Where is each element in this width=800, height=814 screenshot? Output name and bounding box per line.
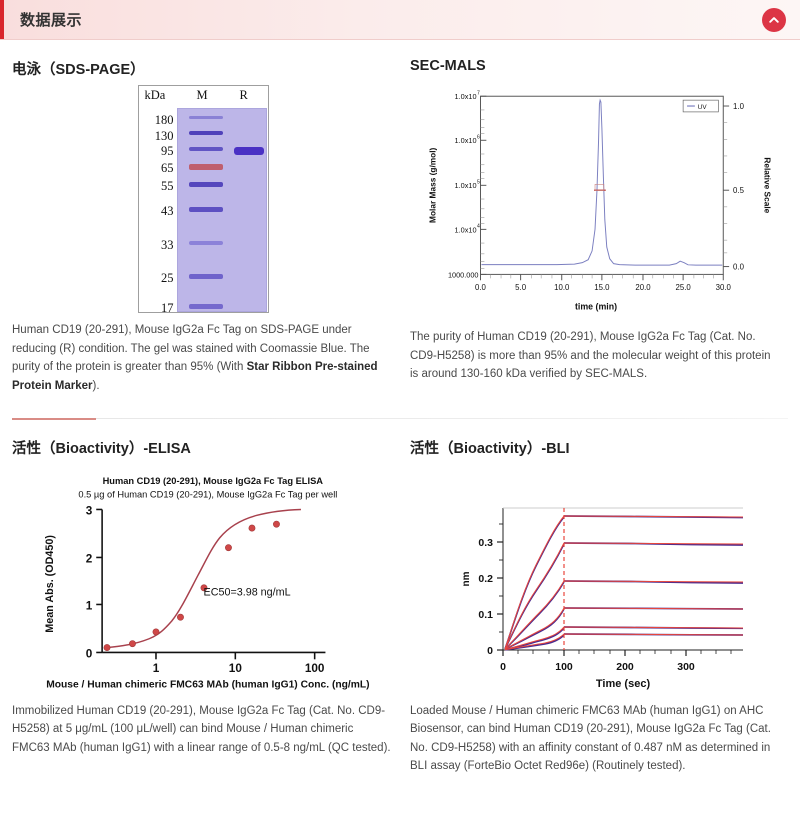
mw-label: 65 [161, 162, 174, 175]
secmals-title: SEC-MALS [410, 58, 782, 74]
mw-label: 95 [161, 145, 174, 158]
marker-band-180 [189, 116, 223, 119]
secmals-xtick: 0.0 [475, 283, 487, 292]
mw-label: 130 [155, 130, 174, 143]
elisa-ytick: 2 [86, 552, 93, 565]
secmals-caption: The purity of Human CD19 (20-291), Mouse… [410, 328, 782, 384]
secmals-xtick: 5.0 [515, 283, 527, 292]
divider-accent [12, 418, 96, 420]
gel-header-kda: kDa [145, 88, 166, 103]
secmals-ytick: 1.0x10 [455, 136, 477, 145]
elisa-title: 活性（Bioactivity）-ELISA [12, 437, 394, 458]
row-bioactivity: 活性（Bioactivity）-ELISA Human CD19 (20-291… [12, 419, 788, 777]
secmals-xtick: 15.0 [594, 283, 610, 292]
secmals-legend-label: UV [698, 104, 708, 111]
marker-band-130 [189, 131, 223, 135]
marker-band-65 [189, 164, 223, 170]
bli-figure: 0 0.1 0.2 0.3 [410, 464, 782, 694]
mw-label: 43 [161, 205, 174, 218]
marker-band-33 [189, 241, 223, 245]
sds-page-gel: kDa M R 180 130 95 65 55 43 33 25 17 [138, 85, 269, 313]
secmals-ytick: 1.0x10 [455, 92, 477, 101]
secmals-ytick-exp: 4 [477, 223, 480, 229]
bli-ylabel: nm [461, 571, 472, 586]
mw-label: 17 [161, 302, 174, 315]
bli-xtick: 200 [616, 661, 634, 673]
bli-ytick: 0 [487, 645, 493, 657]
gel-header-m: M [197, 88, 208, 103]
elisa-ytick: 0 [86, 647, 93, 660]
marker-band-17 [189, 304, 223, 309]
elisa-xtick: 10 [229, 662, 243, 675]
elisa-xlabel: Mouse / Human chimeric FMC63 MAb (human … [46, 679, 369, 690]
bli-ytick: 0.3 [478, 537, 493, 549]
gel-column-headers: kDa M R [139, 88, 268, 106]
elisa-point [249, 524, 255, 530]
sample-band-r [234, 147, 264, 155]
elisa-chart-subtitle: 0.5 µg of Human CD19 (20-291), Mouse IgG… [78, 489, 337, 499]
secmals-xlabel: time (min) [575, 302, 617, 312]
gel-header-r: R [240, 88, 248, 103]
row-purity: 电泳（SDS-PAGE） kDa M R 180 130 95 65 55 43 [12, 40, 788, 396]
sec-mals-chart: 1.0x10 1.0x10 1.0x10 1.0x10 1000.000 7 6… [410, 80, 782, 320]
bli-xtick: 100 [555, 661, 573, 673]
secmals-legend: UV [683, 100, 718, 112]
cell-elisa: 活性（Bioactivity）-ELISA Human CD19 (20-291… [12, 419, 400, 777]
collapse-panel-button[interactable] [762, 8, 786, 32]
chevron-up-icon [767, 13, 781, 27]
bli-title: 活性（Bioactivity）-BLI [410, 437, 782, 458]
elisa-point [177, 614, 183, 620]
section-divider [12, 418, 788, 419]
secmals-ytick-exp: 5 [477, 179, 480, 185]
elisa-chart-title: Human CD19 (20-291), Mouse IgG2a Fc Tag … [103, 475, 324, 485]
panel-header: 数据展示 [0, 0, 800, 40]
elisa-point [129, 640, 135, 646]
secmals-ytick-exp: 7 [477, 90, 480, 96]
bli-chart: 0 0.1 0.2 0.3 [431, 464, 761, 694]
marker-band-43 [189, 207, 223, 212]
secmals-y2tick: 0.0 [733, 263, 745, 272]
elisa-xtick: 1 [153, 662, 160, 675]
secmals-y2label: Relative Scale [762, 157, 772, 213]
sdspage-caption-part2: ). [93, 380, 100, 392]
elisa-point [153, 628, 159, 634]
marker-band-95 [189, 147, 223, 151]
page-title: 数据展示 [20, 9, 82, 30]
elisa-chart: Human CD19 (20-291), Mouse IgG2a Fc Tag … [12, 464, 394, 694]
marker-band-25 [189, 274, 223, 279]
secmals-y2tick: 0.5 [733, 186, 745, 195]
secmals-y2tick: 1.0 [733, 102, 745, 111]
secmals-ytick: 1000.000 [448, 270, 479, 279]
cell-secmals: SEC-MALS [400, 40, 788, 396]
secmals-ytick: 1.0x10 [455, 181, 477, 190]
elisa-ytick: 1 [86, 599, 93, 612]
header-accent-bar [0, 0, 4, 39]
bli-xtick: 0 [500, 661, 506, 673]
bli-xlabel: Time (sec) [596, 678, 651, 690]
sdspage-figure: kDa M R 180 130 95 65 55 43 33 25 17 [12, 85, 394, 313]
marker-band-55 [189, 182, 223, 187]
elisa-caption: Immobilized Human CD19 (20-291), Mouse I… [12, 702, 394, 758]
mw-label: 180 [155, 114, 174, 127]
gel-mw-ladder-labels: 180 130 95 65 55 43 33 25 17 [141, 108, 177, 312]
mw-label: 33 [161, 239, 174, 252]
bli-ytick: 0.2 [478, 573, 493, 585]
secmals-xtick: 25.0 [676, 283, 692, 292]
elisa-ylabel: Mean Abs. (OD450) [44, 534, 56, 632]
bli-xtick: 300 [677, 661, 695, 673]
secmals-xtick: 20.0 [635, 283, 651, 292]
panel-content: 电泳（SDS-PAGE） kDa M R 180 130 95 65 55 43 [0, 40, 800, 776]
gel-lanes [177, 108, 267, 312]
sdspage-caption: Human CD19 (20-291), Mouse IgG2a Fc Tag … [12, 321, 394, 396]
bli-ytick: 0.1 [478, 609, 493, 621]
elisa-figure: Human CD19 (20-291), Mouse IgG2a Fc Tag … [12, 464, 394, 694]
sdspage-title: 电泳（SDS-PAGE） [12, 58, 394, 79]
mw-label: 55 [161, 180, 174, 193]
cell-bli: 活性（Bioactivity）-BLI [400, 419, 788, 777]
cell-sdspage: 电泳（SDS-PAGE） kDa M R 180 130 95 65 55 43 [12, 40, 400, 396]
mw-label: 25 [161, 272, 174, 285]
bli-caption: Loaded Mouse / Human chimeric FMC63 MAb … [410, 702, 782, 777]
secmals-xtick: 30.0 [716, 283, 732, 292]
secmals-ylabel: Molar Mass (g/mol) [427, 147, 437, 223]
secmals-ytick-exp: 6 [477, 134, 480, 140]
elisa-ytick: 3 [86, 504, 93, 517]
elisa-point [104, 644, 110, 650]
elisa-point [225, 544, 231, 550]
elisa-ec50-annotation: EC50=3.98 ng/mL [204, 586, 291, 598]
secmals-ytick: 1.0x10 [455, 225, 477, 234]
secmals-figure: 1.0x10 1.0x10 1.0x10 1.0x10 1000.000 7 6… [410, 80, 782, 320]
elisa-xtick: 100 [305, 662, 325, 675]
elisa-point [273, 521, 279, 527]
secmals-xtick: 10.0 [554, 283, 570, 292]
